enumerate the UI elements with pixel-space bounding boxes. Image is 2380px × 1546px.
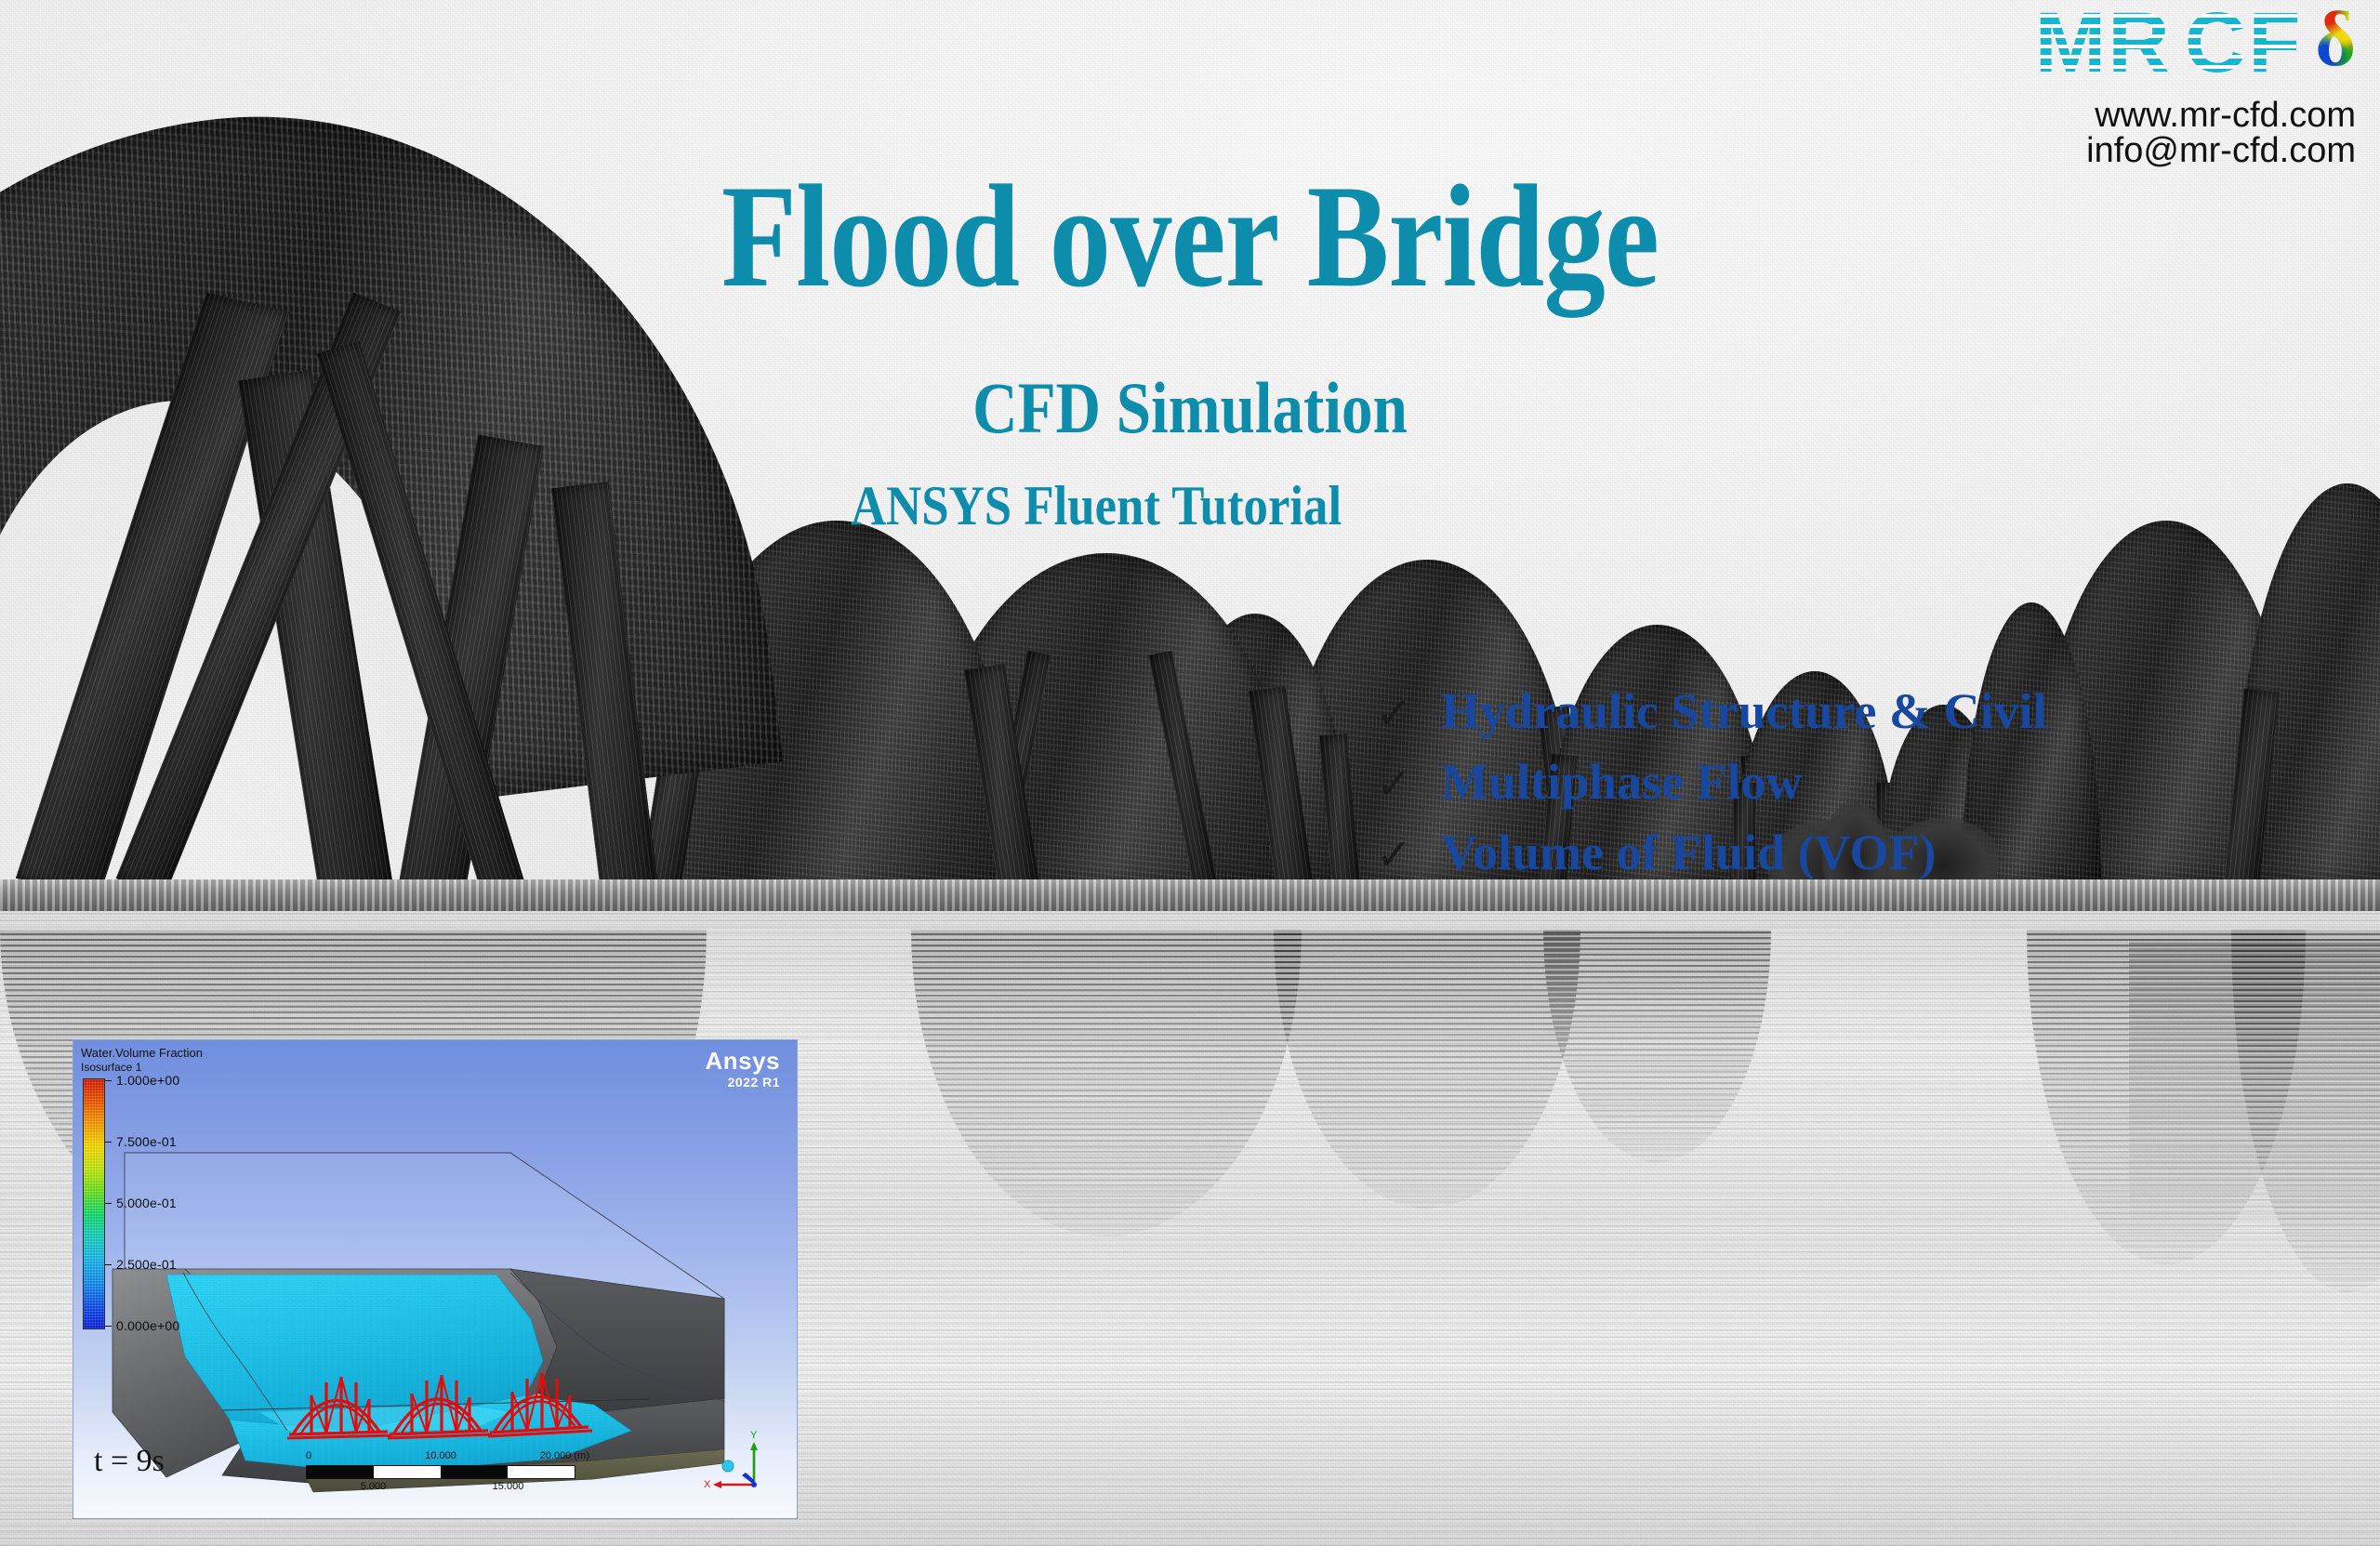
list-item: ✓ Volume of Fluid (VOF) xyxy=(1376,825,2046,880)
colorbar-tick: 5.000e-01 xyxy=(105,1196,177,1210)
colorbar-tick: 0.000e+00 xyxy=(105,1318,179,1333)
logo-delta-icon: δ xyxy=(2315,0,2356,80)
brand-logo-mark: MR CF δ xyxy=(2035,0,2356,89)
list-item-label: Volume of Fluid (VOF) xyxy=(1441,825,1936,880)
list-item-label: Hydraulic Structure & Civil xyxy=(1441,683,2046,739)
tick-mark xyxy=(105,1142,112,1143)
logo-text-cf: CF xyxy=(2185,0,2303,86)
poster-canvas: MR CF δ www.mr-cfd.com info@mr-cfd.com F… xyxy=(0,0,2380,1546)
logo-text-mr: MR xyxy=(2035,0,2172,86)
list-item-label: Multiphase Flow xyxy=(1441,754,1803,810)
axis-x-label: X xyxy=(704,1479,711,1490)
cfd-result-panel[interactable]: Water.Volume Fraction Isosurface 1 1.000… xyxy=(73,1039,798,1519)
scale-label-15: 15.000 xyxy=(493,1481,524,1492)
tick-label: 2.500e-01 xyxy=(116,1257,177,1272)
axis-y-label: Y xyxy=(750,1430,758,1441)
list-item: ✓ Hydraulic Structure & Civil xyxy=(1376,683,2046,739)
tick-label: 7.500e-01 xyxy=(116,1134,177,1149)
axis-triad: X Y Z xyxy=(700,1429,773,1498)
page-subtitle: CFD Simulation xyxy=(166,370,2214,446)
scale-segment xyxy=(508,1466,575,1478)
simulation-time-label: t = 9s xyxy=(94,1444,165,1479)
tick-mark xyxy=(105,1326,112,1327)
check-icon: ✓ xyxy=(1376,830,1417,879)
colorbar-legend: Water.Volume Fraction Isosurface 1 1.000… xyxy=(81,1046,220,1328)
check-icon: ✓ xyxy=(1376,760,1417,808)
scale-bar: 0 10.000 20.000 (m) 5.000 15.000 xyxy=(306,1450,575,1496)
tick-label: 1.000e+00 xyxy=(116,1073,179,1088)
brand-logo-block[interactable]: MR CF δ www.mr-cfd.com info@mr-cfd.com xyxy=(2035,0,2356,171)
scale-label-10: 10.000 xyxy=(425,1450,456,1461)
scale-label-20: 20.000 (m) xyxy=(540,1450,589,1461)
triad-pivot-dot xyxy=(722,1460,734,1472)
scale-segment xyxy=(441,1466,508,1478)
page-title: Flood over Bridge xyxy=(191,163,2189,311)
scale-segment xyxy=(374,1466,441,1478)
page-tertiary-title: ANSYS Fluent Tutorial xyxy=(851,476,1342,535)
colorbar-tick: 1.000e+00 xyxy=(105,1073,179,1088)
list-item: ✓ Multiphase Flow xyxy=(1376,754,2046,810)
ansys-version: 2022 R1 xyxy=(705,1074,780,1090)
colorbar-tick: 7.500e-01 xyxy=(105,1134,177,1149)
legend-title: Water.Volume Fraction xyxy=(81,1046,220,1061)
tick-mark xyxy=(105,1264,112,1265)
scale-label-0: 0 xyxy=(306,1450,311,1461)
feature-list: ✓ Hydraulic Structure & Civil ✓ Multipha… xyxy=(1376,683,2046,895)
tick-mark xyxy=(105,1080,112,1081)
ansys-branding: Ansys 2022 R1 xyxy=(705,1048,780,1090)
colorbar-wrapper: 1.000e+00 7.500e-01 5.000e-01 2.500e-01 … xyxy=(81,1078,220,1328)
scale-bar-top-labels: 0 10.000 20.000 (m) xyxy=(306,1450,575,1465)
scale-label-5: 5.000 xyxy=(361,1481,387,1492)
scale-bar-bottom-labels: 5.000 15.000 xyxy=(306,1481,575,1496)
scale-segment xyxy=(307,1466,374,1478)
tick-mark xyxy=(105,1203,112,1204)
ansys-logo-text: Ansys xyxy=(705,1048,780,1074)
check-icon: ✓ xyxy=(1376,689,1417,737)
scale-bar-segments xyxy=(306,1465,575,1479)
tick-label: 0.000e+00 xyxy=(116,1318,179,1333)
tick-label: 5.000e-01 xyxy=(116,1196,177,1210)
colorbar-gradient xyxy=(83,1078,105,1329)
colorbar-tick: 2.500e-01 xyxy=(105,1257,177,1272)
